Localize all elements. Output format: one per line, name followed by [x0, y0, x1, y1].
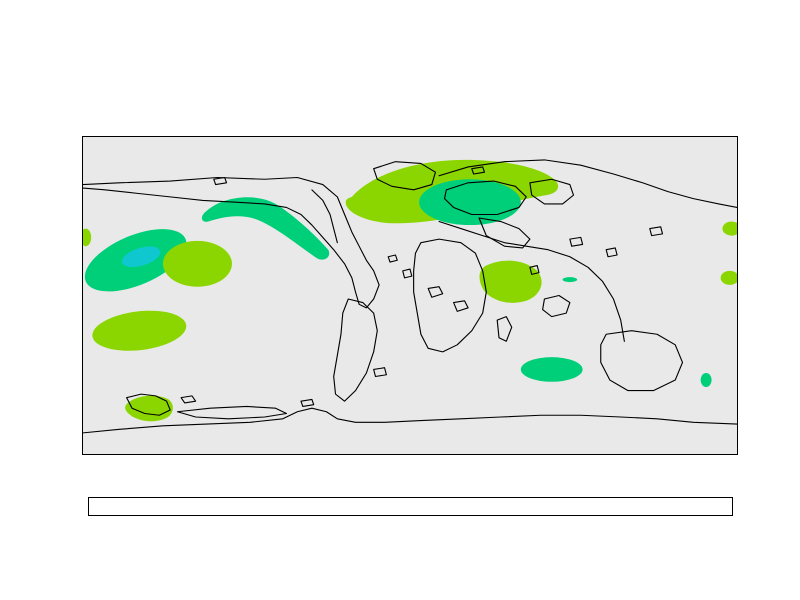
contour-west-pacific-sliver [83, 229, 91, 247]
coastline-south-america [334, 299, 378, 401]
coastline-africa [414, 239, 487, 352]
coastline-antarctic-shelf [177, 406, 286, 418]
coastline-island-2 [403, 269, 412, 278]
coastline-island-9 [214, 178, 227, 185]
contour-australia-edge-sliver [701, 373, 712, 387]
coastline-island-6 [570, 237, 583, 246]
coastline-australia [601, 331, 683, 391]
coastline-north-america-inner [312, 190, 337, 243]
coastline-india-fragment [543, 296, 570, 317]
contour-southern-indian-negative [521, 357, 583, 382]
coastline-island-7 [606, 248, 617, 257]
contour-fills [83, 160, 737, 421]
colorbar [88, 497, 733, 516]
contour-indian-ocean-sliver [563, 277, 578, 282]
contour-central-pacific-positive [163, 241, 232, 287]
coastline-island-4 [454, 301, 469, 312]
contour-east-pacific-sliver [722, 222, 737, 236]
contour-south-pacific-positive [90, 306, 189, 356]
coastline-island-1 [388, 255, 397, 262]
map-plot-area [82, 136, 738, 455]
map-canvas [83, 137, 737, 454]
contour-india-sliver [721, 271, 737, 285]
coastline-madagascar [497, 317, 512, 342]
coastline-island-3 [428, 287, 443, 298]
coastline-island-11 [374, 368, 387, 377]
coastline-island-8 [650, 227, 663, 236]
coastline-antarctic-islands [181, 396, 196, 403]
contour-north-atlantic-negative [419, 179, 521, 225]
coastline-antarctica [83, 408, 737, 433]
coastline-island-12 [301, 399, 314, 406]
